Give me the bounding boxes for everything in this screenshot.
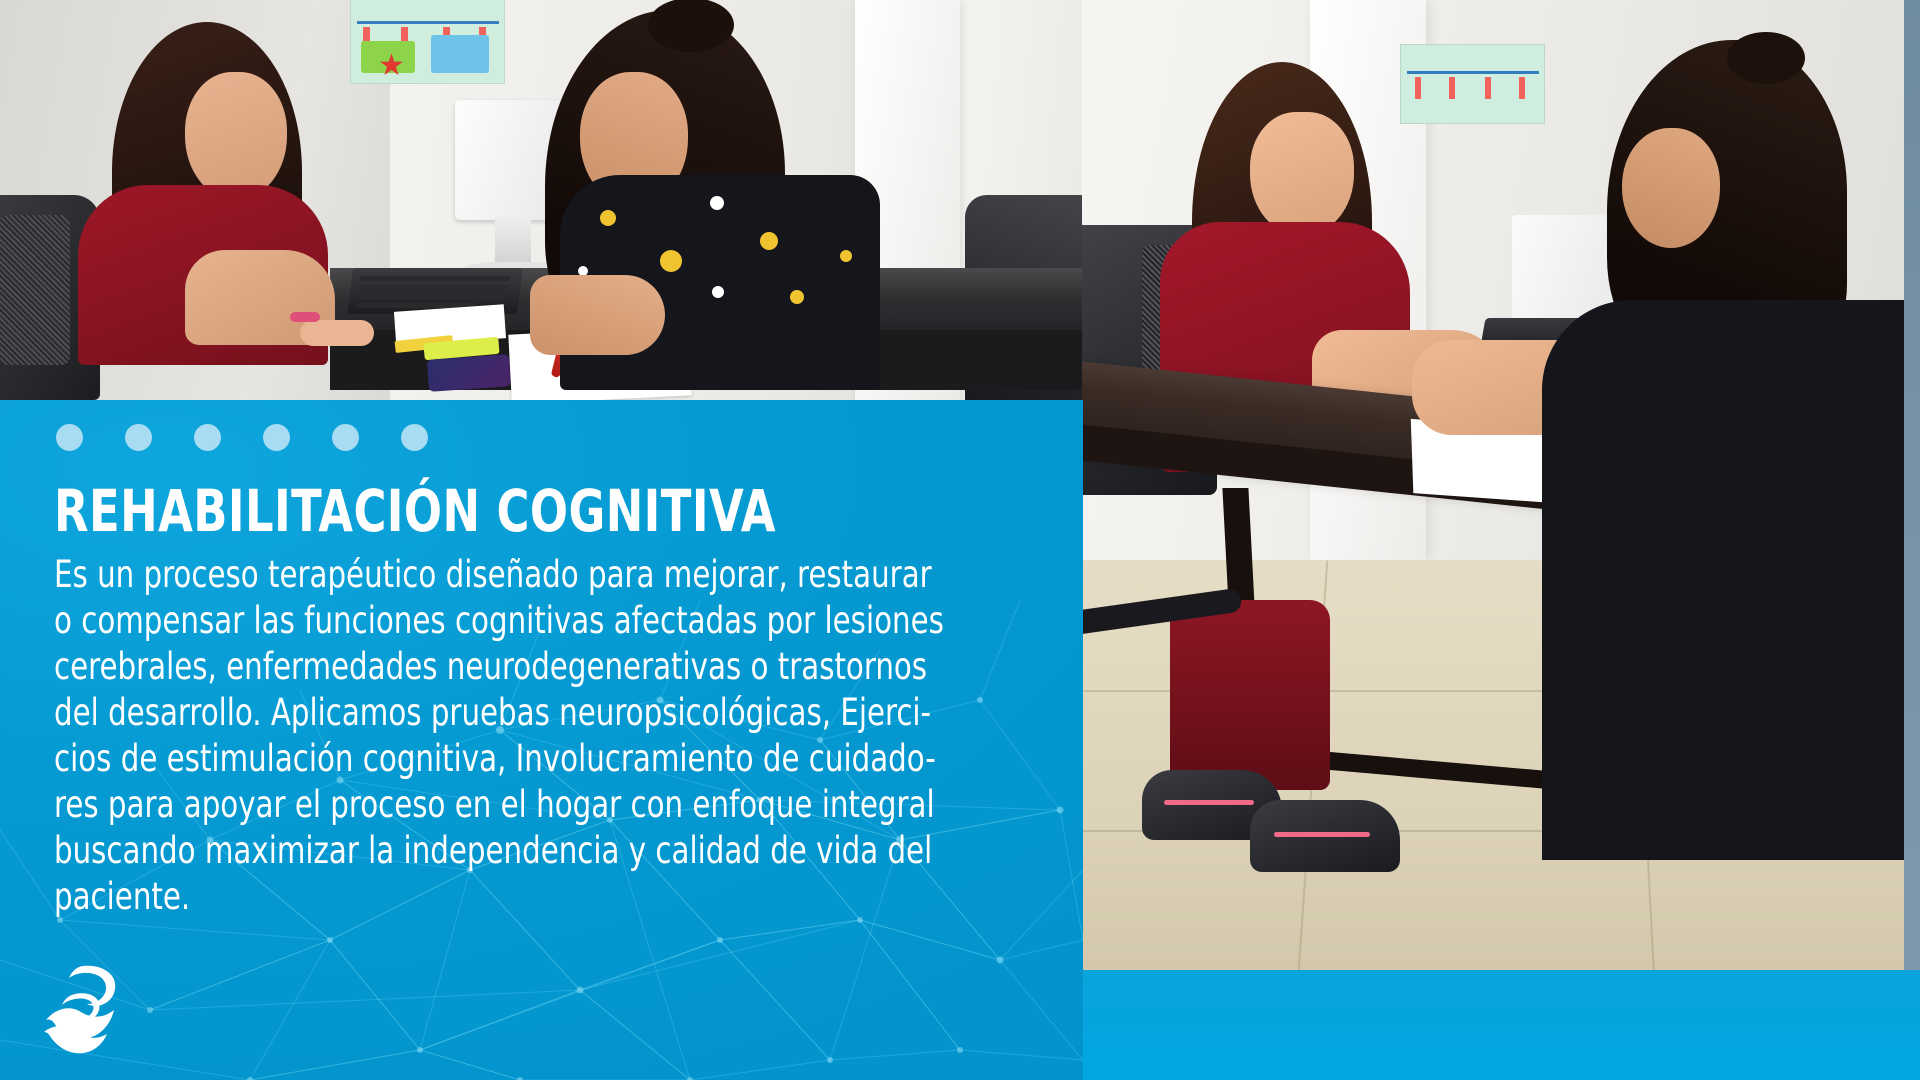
decorative-dot: [125, 424, 152, 451]
page-title: REHABILITACIÓN COGNITIVA: [54, 477, 776, 545]
decorative-dot: [194, 424, 221, 451]
info-panel: REHABILITACIÓN COGNITIVA Es un proceso t…: [0, 400, 1083, 1080]
decorative-dot: [332, 424, 359, 451]
panel-description: Es un proceso terapéutico diseñado para …: [54, 552, 943, 920]
description-line: res para apoyar el proceso en el hogar c…: [54, 782, 943, 828]
description-line: del desarrollo. Aplicamos pruebas neurop…: [54, 690, 943, 736]
description-line: o compensar las funciones cognitivas afe…: [54, 598, 943, 644]
leaf-wave-logo: [42, 960, 150, 1056]
decorative-dots-row: [56, 424, 428, 451]
decorative-dot: [401, 424, 428, 451]
description-line: buscando maximizar la independencia y ca…: [54, 828, 943, 874]
wall-poster-right: [1400, 44, 1545, 124]
description-line: paciente.: [54, 874, 943, 920]
poster-root: ★: [0, 0, 1920, 1080]
bottom-cyan-band: [1083, 970, 1920, 1080]
description-line: cerebrales, enfermedades neurodegenerati…: [54, 644, 943, 690]
description-line: Es un proceso terapéutico diseñado para …: [54, 552, 943, 598]
decorative-dot: [263, 424, 290, 451]
right-edge-strip: [1904, 0, 1920, 970]
decorative-dot: [56, 424, 83, 451]
wall-poster-left: [350, 0, 505, 84]
description-line: cios de estimulación cognitiva, Involucr…: [54, 736, 943, 782]
therapist-hand-exercise-right-photo: [1082, 0, 1920, 970]
